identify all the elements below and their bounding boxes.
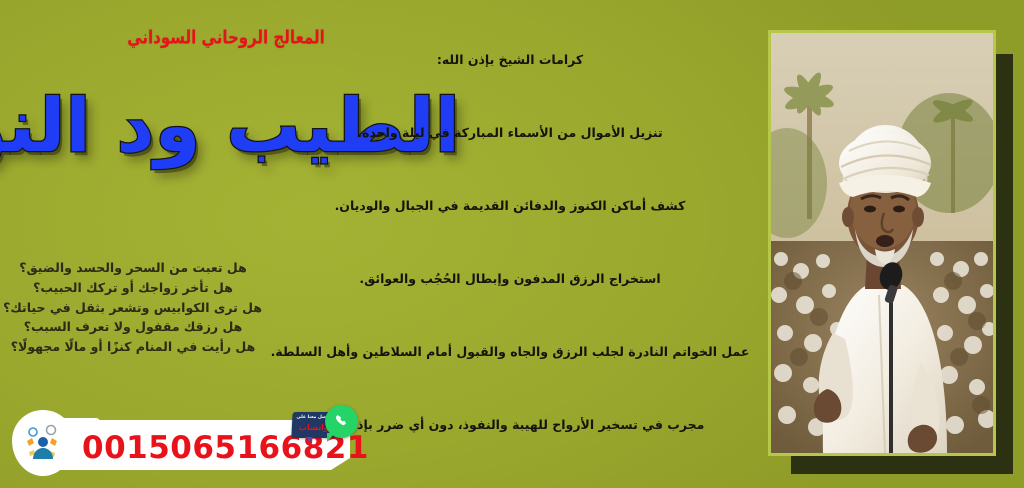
services-list: كرامات الشيخ بإذن الله: تنزيل الأموال من… [264,52,756,432]
question-item: هل رأيت في المنام كنزًا أو مالًا مجهولًا… [4,337,262,357]
question-item: هل رزقك مقفول ولا تعرف السبب؟ [4,317,262,337]
question-item: هل تأخر زواجك أو تركك الحبيب؟ [4,278,262,298]
whatsapp-icon[interactable] [325,405,358,438]
page-subtitle: المعالج الروحاني السوداني [0,26,452,49]
whatsapp-tag-tail [305,437,312,444]
service-item: استخراج الرزق المدفون وإبطال الحُجُب وال… [264,271,756,286]
sheikh-photo [771,33,993,453]
service-item: عمل الخواتم النادرة لجلب الرزق والجاه وا… [264,344,756,359]
poster-canvas: المعالج الروحاني السوداني الطيب ود النور… [0,0,1024,488]
service-item: كشف أماكن الكنوز والدفائن القديمة في الج… [264,198,756,213]
questions-block: هل تعبت من السحر والحسد والضيق؟ هل تأخر … [4,258,262,357]
services-heading: كرامات الشيخ بإذن الله: [264,52,756,67]
service-item: تنزيل الأموال من الأسماء المباركة في ليل… [264,125,756,140]
photo-frame [771,33,993,453]
question-item: هل تعبت من السحر والحسد والضيق؟ [4,258,262,278]
question-item: هل ترى الكوابيس وتشعر بثقل في حياتك؟ [4,298,262,318]
